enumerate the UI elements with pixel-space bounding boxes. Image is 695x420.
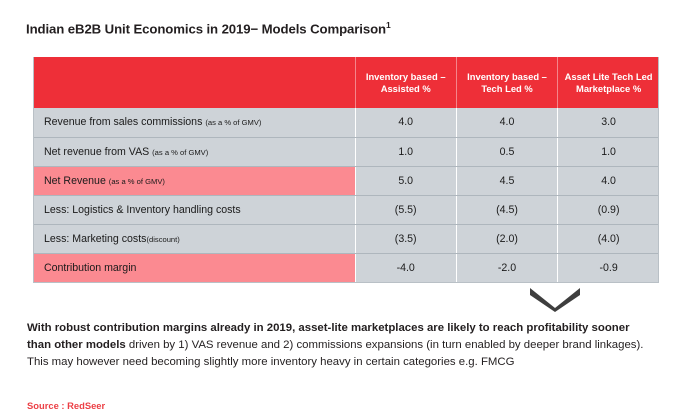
table-row: Less: Logistics & Inventory handling cos… <box>33 195 659 224</box>
unit-economics-table: Inventory based – Assisted % Inventory b… <box>33 57 659 282</box>
page-title-superscript: 1 <box>386 20 391 30</box>
chevron-down-icon <box>527 286 583 312</box>
page-title: Indian eB2B Unit Economics in 2019− Mode… <box>26 20 391 36</box>
row-label-note: (discount) <box>146 235 179 244</box>
cell-value: (5.5) <box>355 195 456 224</box>
cell-value: (0.9) <box>558 195 659 224</box>
row-label-less-logistics-inventory-handling-costs: Less: Logistics & Inventory handling cos… <box>33 195 355 224</box>
cell-value: 0.5 <box>456 137 557 166</box>
unit-economics-table-wrapper: Inventory based – Assisted % Inventory b… <box>33 57 659 282</box>
row-label-main: Less: Marketing costs <box>44 233 146 245</box>
row-label-note: (as a % of GMV) <box>109 177 165 186</box>
cell-value: 4.0 <box>355 108 456 137</box>
cell-value: 4.5 <box>456 166 557 195</box>
cell-value: 4.0 <box>456 108 557 137</box>
table-row-highlighted: Net Revenue (as a % of GMV) 5.0 4.5 4.0 <box>33 166 659 195</box>
summary-paragraph: With robust contribution margins already… <box>27 320 645 372</box>
table-body: Revenue from sales commissions (as a % o… <box>33 108 659 282</box>
table-header-row: Inventory based – Assisted % Inventory b… <box>33 57 659 108</box>
page-title-text: Indian eB2B Unit Economics in 2019− Mode… <box>26 21 386 36</box>
table-row: Net revenue from VAS (as a % of GMV) 1.0… <box>33 137 659 166</box>
cell-value: 4.0 <box>558 166 659 195</box>
column-header-row-label <box>33 57 355 108</box>
cell-value: -2.0 <box>456 253 557 282</box>
row-label-main: Contribution margin <box>44 262 136 274</box>
row-label-main: Net revenue from VAS <box>44 146 149 158</box>
table-row: Revenue from sales commissions (as a % o… <box>33 108 659 137</box>
cell-value: 5.0 <box>355 166 456 195</box>
row-label-main: Revenue from sales commissions <box>44 116 202 128</box>
cell-value: (4.0) <box>558 224 659 253</box>
row-label-less-marketing-costs: Less: Marketing costs(discount) <box>33 224 355 253</box>
table-header: Inventory based – Assisted % Inventory b… <box>33 57 659 108</box>
cell-value: (4.5) <box>456 195 557 224</box>
column-header-asset-lite-marketplace: Asset Lite Tech Led Marketplace % <box>558 57 659 108</box>
cell-value: -0.9 <box>558 253 659 282</box>
cell-value: 1.0 <box>558 137 659 166</box>
cell-value: 3.0 <box>558 108 659 137</box>
row-label-main: Less: Logistics & Inventory handling cos… <box>44 204 241 216</box>
cell-value: -4.0 <box>355 253 456 282</box>
row-label-net-revenue-from-vas: Net revenue from VAS (as a % of GMV) <box>33 137 355 166</box>
row-label-revenue-from-sales-commissions: Revenue from sales commissions (as a % o… <box>33 108 355 137</box>
row-label-note: (as a % of GMV) <box>205 118 261 127</box>
column-header-inventory-tech-led: Inventory based – Tech Led % <box>456 57 557 108</box>
source-label: Source : RedSeer <box>27 400 105 411</box>
column-header-inventory-assisted: Inventory based – Assisted % <box>355 57 456 108</box>
row-label-net-revenue: Net Revenue (as a % of GMV) <box>33 166 355 195</box>
table-row-highlighted: Contribution margin -4.0 -2.0 -0.9 <box>33 253 659 282</box>
cell-value: (2.0) <box>456 224 557 253</box>
cell-value: 1.0 <box>355 137 456 166</box>
row-label-contribution-margin: Contribution margin <box>33 253 355 282</box>
table-row: Less: Marketing costs(discount) (3.5) (2… <box>33 224 659 253</box>
row-label-note: (as a % of GMV) <box>152 148 208 157</box>
row-label-main: Net Revenue <box>44 175 106 187</box>
cell-value: (3.5) <box>355 224 456 253</box>
